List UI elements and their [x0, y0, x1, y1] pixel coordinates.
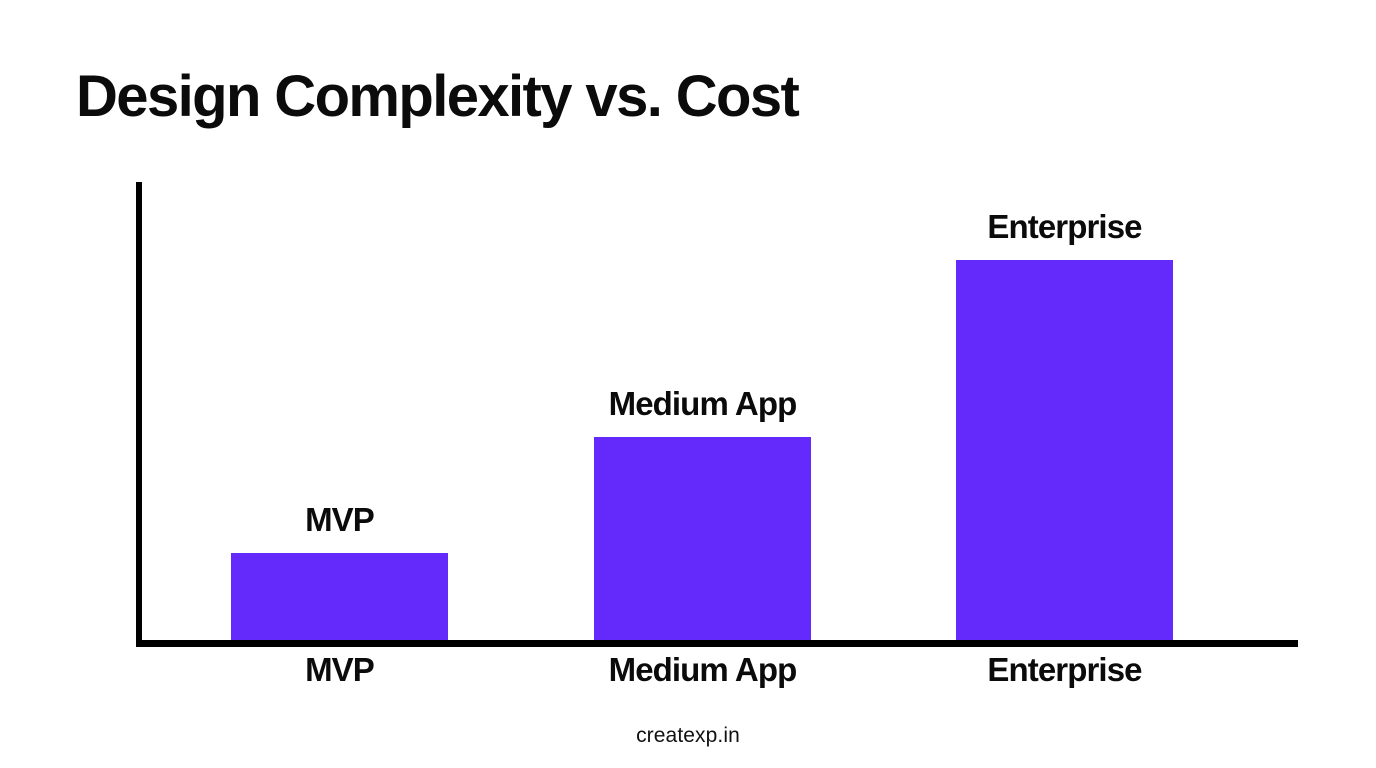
bar-group-medium-app: Medium App	[594, 182, 811, 640]
x-axis-line	[136, 640, 1298, 647]
bar-mvp[interactable]	[231, 553, 448, 640]
bar-label-medium-app: Medium App	[609, 385, 797, 423]
x-axis-tick-labels: MVP Medium App Enterprise	[136, 651, 1298, 701]
x-tick-mvp: MVP	[231, 651, 448, 689]
chart-canvas: Design Complexity vs. Cost Cost ($) MVP …	[0, 0, 1376, 768]
watermark-text: createxp.in	[0, 724, 1376, 748]
x-tick-enterprise: Enterprise	[956, 651, 1173, 689]
page-title: Design Complexity vs. Cost	[76, 66, 798, 129]
bar-group-mvp: MVP	[231, 182, 448, 640]
bar-label-enterprise: Enterprise	[987, 208, 1141, 246]
bar-enterprise[interactable]	[956, 260, 1173, 640]
bar-label-mvp: MVP	[305, 501, 374, 539]
plot-area: MVP Medium App Enterprise	[136, 182, 1298, 640]
bar-series: MVP Medium App Enterprise	[136, 182, 1298, 640]
bar-medium-app[interactable]	[594, 437, 811, 640]
bar-group-enterprise: Enterprise	[956, 182, 1173, 640]
x-tick-medium-app: Medium App	[594, 651, 811, 689]
